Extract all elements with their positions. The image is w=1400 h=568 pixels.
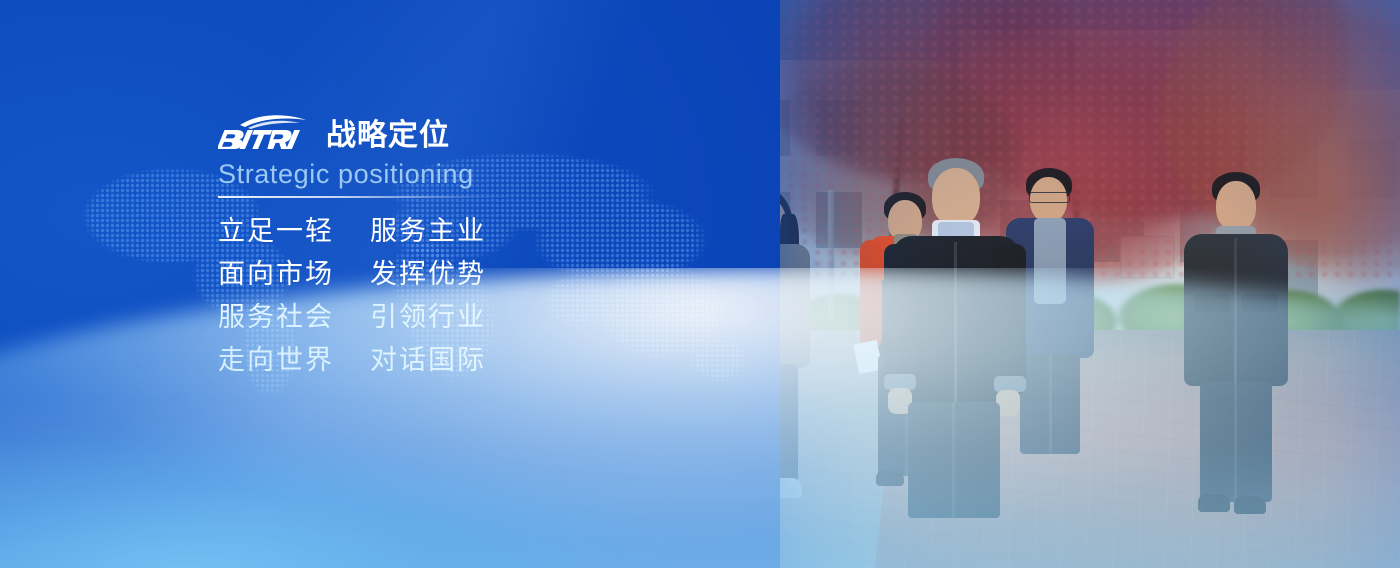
slogan-row: 服务社会 引领行业 bbox=[218, 304, 638, 331]
slogan-left: 服务社会 bbox=[218, 304, 370, 331]
heading-zh: 战略定位 bbox=[326, 121, 450, 154]
slogan-right: 发挥优势 bbox=[370, 261, 486, 288]
slogan-list: 立足一轻 服务主业 面向市场 发挥优势 服务社会 引领行业 走向世界 对话国际 bbox=[218, 218, 638, 374]
slogan-right: 引领行业 bbox=[370, 304, 486, 331]
banner-text-block: 战略定位 Strategic positioning 立足一轻 服务主业 面向市… bbox=[218, 108, 638, 390]
slogan-right: 服务主业 bbox=[370, 218, 486, 245]
slogan-row: 立足一轻 服务主业 bbox=[218, 218, 638, 245]
bitri-logo bbox=[218, 112, 314, 154]
brand-lockup: 战略定位 bbox=[218, 108, 638, 154]
bitri-wordmark-icon bbox=[218, 112, 314, 154]
slogan-left: 面向市场 bbox=[218, 261, 370, 288]
slogan-left: 走向世界 bbox=[218, 347, 370, 374]
strategic-positioning-banner: 战略定位 Strategic positioning 立足一轻 服务主业 面向市… bbox=[0, 0, 1400, 568]
slogan-row: 走向世界 对话国际 bbox=[218, 347, 638, 374]
heading-en: Strategic positioning bbox=[218, 160, 638, 190]
slogan-right: 对话国际 bbox=[370, 347, 486, 374]
heading-underline bbox=[218, 196, 508, 198]
slogan-left: 立足一轻 bbox=[218, 218, 370, 245]
slogan-row: 面向市场 发挥优势 bbox=[218, 261, 638, 288]
